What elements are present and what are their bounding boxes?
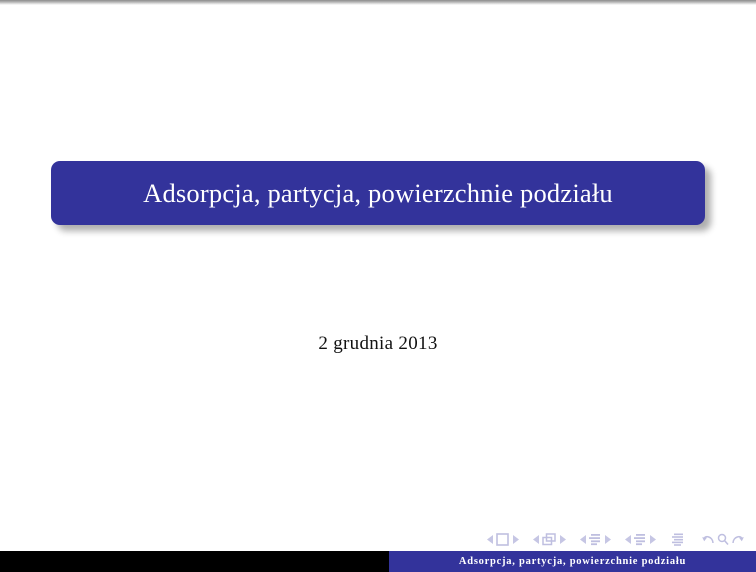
beamer-navigation-bar[interactable] <box>484 530 744 548</box>
footer-bar: Adsorpcja, partycja, powierzchnie podzia… <box>0 551 756 572</box>
nav-group-subsection[interactable] <box>577 533 613 546</box>
triangle-left-icon[interactable] <box>487 535 494 544</box>
triangle-left-icon[interactable] <box>580 535 587 544</box>
triangle-right-icon[interactable] <box>649 535 656 544</box>
triangle-right-icon[interactable] <box>559 535 566 544</box>
back-arrow-icon[interactable] <box>702 533 715 546</box>
nav-group-frame[interactable] <box>530 533 568 546</box>
nav-group-section[interactable] <box>622 533 658 546</box>
triangle-right-icon[interactable] <box>512 535 519 544</box>
document-icon[interactable] <box>672 533 684 546</box>
presentation-date: 2 grudnia 2013 <box>0 333 756 355</box>
magnifier-icon[interactable] <box>717 533 729 546</box>
page-title: Adsorpcja, partycja, powierzchnie podzia… <box>143 180 613 207</box>
slide-canvas: Adsorpcja, partycja, powierzchnie podzia… <box>0 5 756 567</box>
square-icon[interactable] <box>496 533 509 546</box>
nav-group-document[interactable] <box>672 533 684 546</box>
lines-icon[interactable] <box>589 533 601 546</box>
triangle-left-icon[interactable] <box>625 535 632 544</box>
nav-group-history[interactable] <box>702 533 744 546</box>
triangle-left-icon[interactable] <box>533 535 540 544</box>
footer-left-block <box>0 551 389 572</box>
footer-title-text: Adsorpcja, partycja, powierzchnie podzia… <box>459 556 686 567</box>
lines-icon[interactable] <box>634 533 646 546</box>
triangle-right-icon[interactable] <box>604 535 611 544</box>
footer-right-block: Adsorpcja, partycja, powierzchnie podzia… <box>389 551 756 572</box>
nav-group-slide[interactable] <box>484 533 521 546</box>
title-block: Adsorpcja, partycja, powierzchnie podzia… <box>51 161 705 225</box>
frames-icon[interactable] <box>542 533 556 546</box>
forward-arrow-icon[interactable] <box>731 533 744 546</box>
